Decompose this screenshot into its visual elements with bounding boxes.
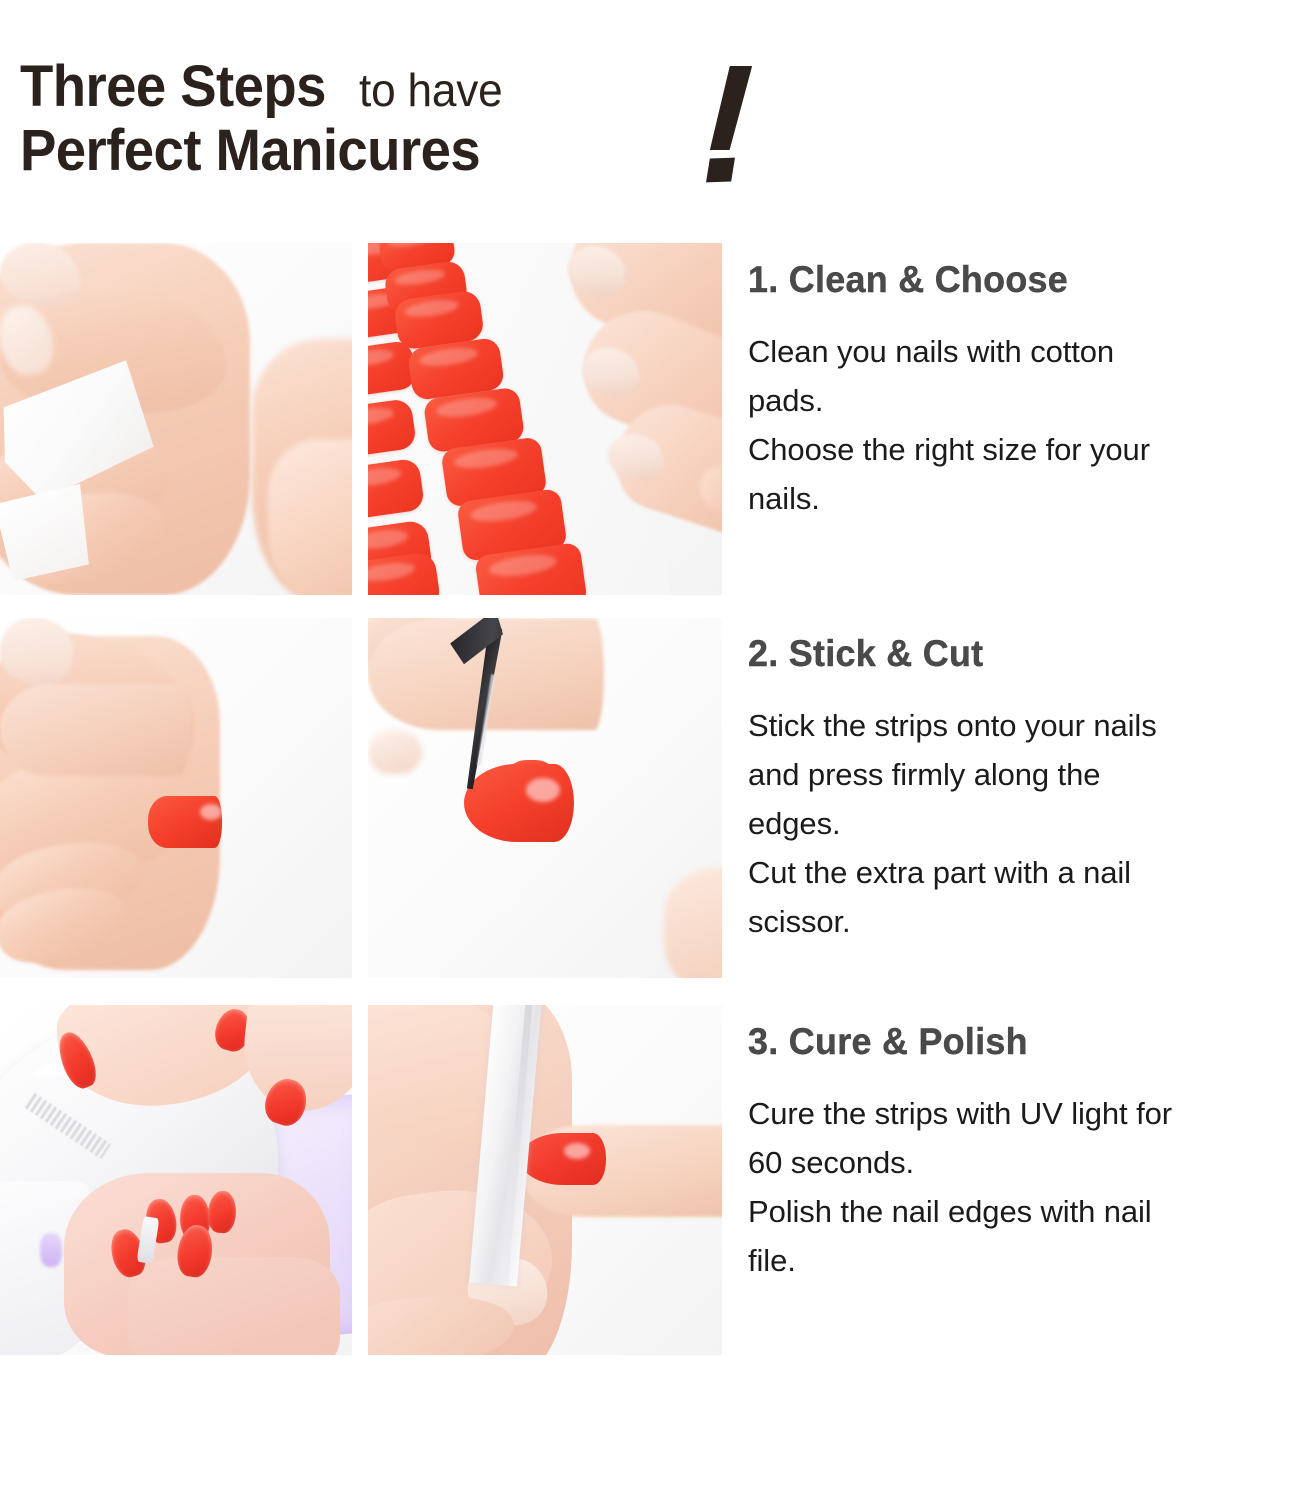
step-1-body-line: Clean you nails with cotton: [748, 327, 1300, 376]
right-hand-thumb: [268, 439, 352, 595]
step-1-heading: 1. Clean & Choose: [748, 259, 1283, 301]
image-stick-strip-onto-nail: [0, 618, 352, 978]
step-3-body: Cure the strips with UV light for 60 sec…: [748, 1089, 1300, 1285]
title-light-to-have: to have: [359, 67, 503, 113]
image-cure-nails-under-uv-lamp: [0, 1005, 352, 1355]
step-2-body-line: Stick the strips onto your nails: [748, 701, 1300, 750]
step-1-body-line: Choose the right size for your: [748, 425, 1300, 474]
image-cut-extra-strip-with-scissor: [368, 618, 722, 978]
image-nail-strip-sheet-size-match: [368, 243, 722, 595]
red-nail-strip-applied: [148, 796, 222, 848]
title-line-2: Perfect Manicures: [20, 122, 509, 180]
page-title: Three Stepsto have Perfect Manicures: [20, 58, 810, 203]
supporting-thumbnail: [368, 730, 422, 774]
step-1-body: Clean you nails with cotton pads. Choose…: [748, 327, 1300, 523]
step-2-body-line: edges.: [748, 799, 1300, 848]
step-3-body-line: Cure the strips with UV light for: [748, 1089, 1300, 1138]
uv-lamp-side-glow: [40, 1233, 62, 1267]
step-2-body-line: scissor.: [748, 897, 1300, 946]
step-3-body-line: 60 seconds.: [748, 1138, 1300, 1187]
lower-hand-fingers: [128, 1257, 340, 1355]
step-3-body-line: Polish the nail edges with nail: [748, 1187, 1300, 1236]
title-strong-three-steps: Three Steps: [20, 58, 326, 116]
step-3-body-line: file.: [748, 1236, 1300, 1285]
exclamation-dot: [706, 158, 735, 183]
target-finger: [0, 684, 190, 776]
image-polish-nail-edges-with-file: [368, 1005, 722, 1355]
step-2: 2. Stick & Cut Stick the strips onto you…: [748, 633, 1300, 946]
step-1: 1. Clean & Choose Clean you nails with c…: [748, 259, 1300, 523]
step-2-body-line: Cut the extra part with a nail: [748, 848, 1300, 897]
red-painted-nail: [520, 1133, 606, 1185]
step-1-body-line: pads.: [748, 376, 1300, 425]
title-strong-perfect-manicures: Perfect Manicures: [20, 122, 480, 180]
step-2-body-line: and press firmly along the: [748, 750, 1300, 799]
infographic-page: Three Stepsto have Perfect Manicures: [0, 0, 1300, 1500]
title-line-1: Three Stepsto have: [20, 58, 509, 116]
exclamation-bar: [710, 66, 752, 150]
step-1-body-line: nails.: [748, 474, 1300, 523]
exclamation-mark-icon: [698, 66, 778, 188]
nail-strip: [368, 551, 441, 595]
step-image-grid: [0, 243, 722, 1355]
image-clean-nail-with-cotton-pad: [0, 243, 352, 595]
step-2-heading: 2. Stick & Cut: [748, 633, 1283, 675]
step-2-body: Stick the strips onto your nails and pre…: [748, 701, 1300, 946]
step-3: 3. Cure & Polish Cure the strips with UV…: [748, 1021, 1300, 1285]
red-painted-nail: [464, 764, 574, 842]
step-3-heading: 3. Cure & Polish: [748, 1021, 1283, 1063]
